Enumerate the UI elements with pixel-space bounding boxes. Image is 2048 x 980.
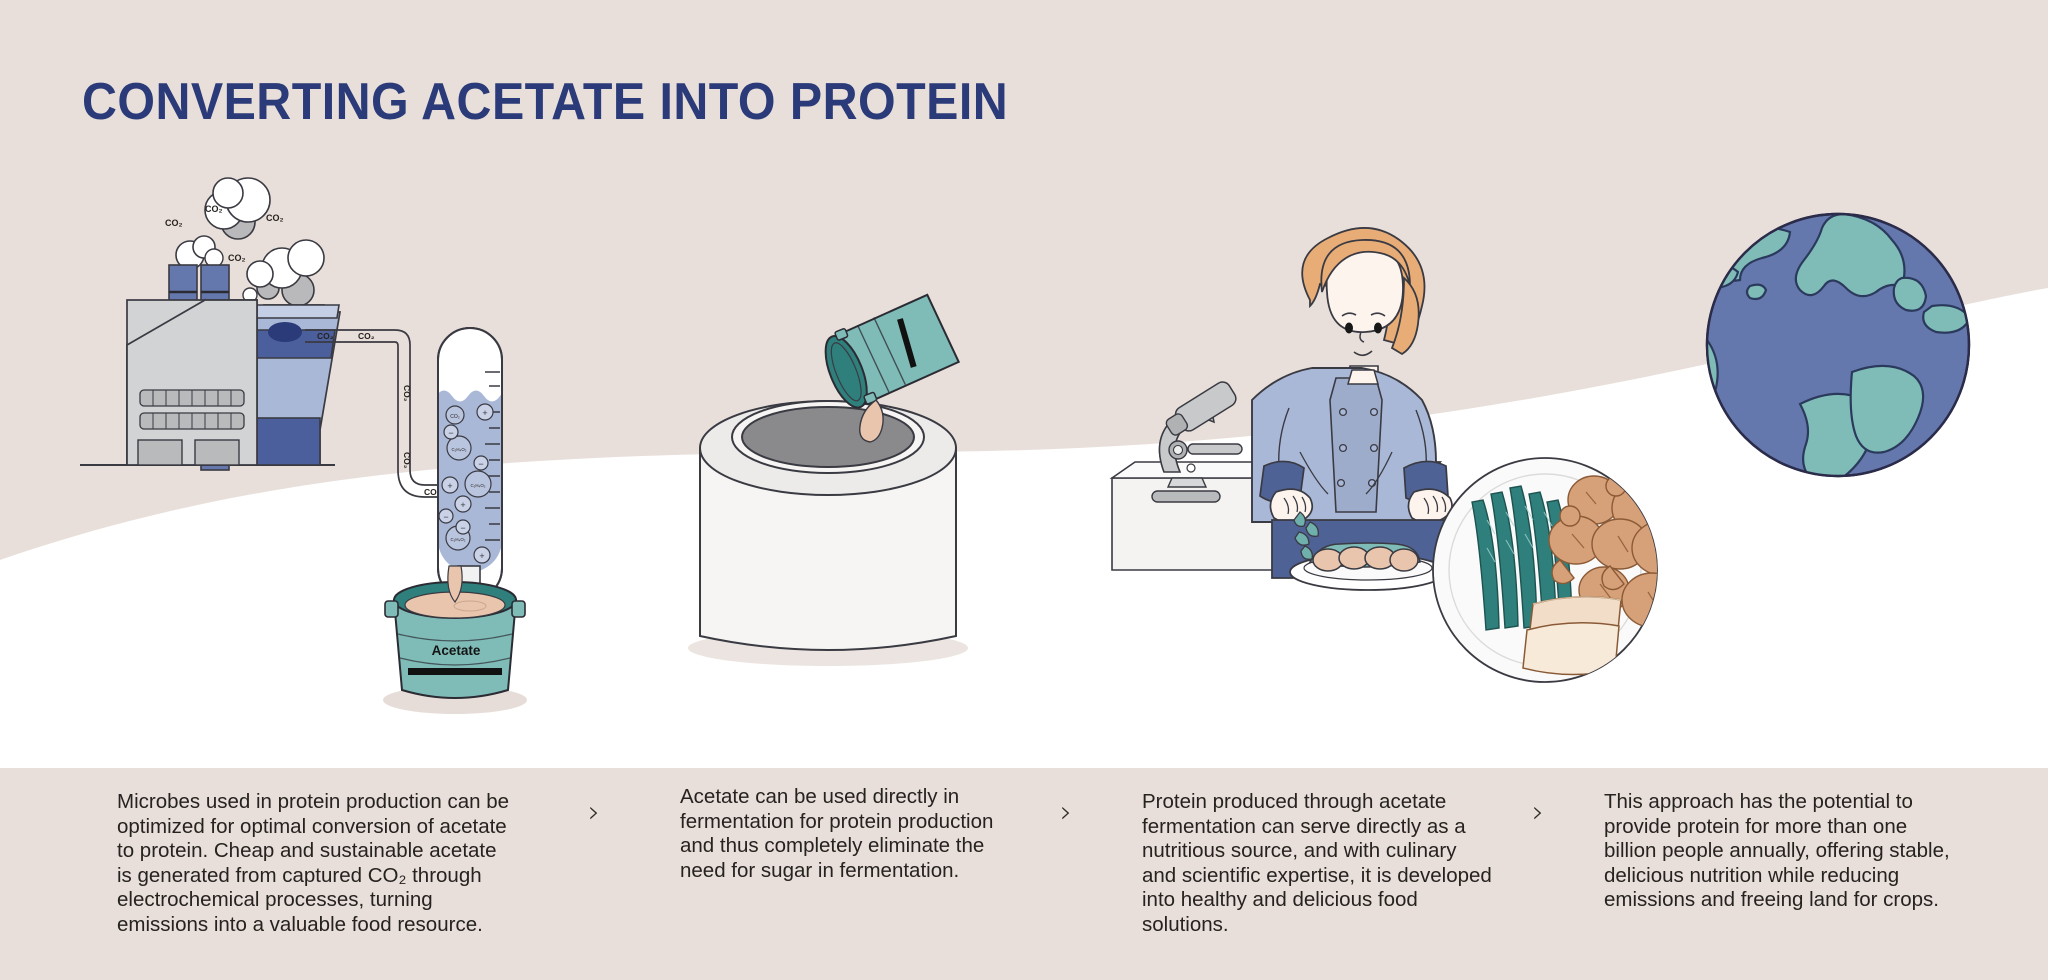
step-separator-1-icon: ›	[588, 798, 600, 828]
factory-building	[127, 300, 257, 465]
bread-icon	[1523, 597, 1621, 675]
caption-1: Microbes used in protein production can …	[117, 790, 517, 938]
factory-window-row	[140, 390, 244, 406]
chef-scene-illustration	[1112, 228, 1468, 590]
svg-text:CO₂: CO₂	[450, 414, 460, 420]
food-plate-illustration	[1433, 458, 1701, 682]
co2-label: CO₂	[358, 331, 375, 341]
co2-label: CO₂	[402, 385, 412, 402]
svg-text:+: +	[447, 481, 452, 491]
factory-window-row	[140, 413, 244, 429]
co2-label: CO₂	[266, 213, 284, 223]
reactor-molecule-bubble: CO₂	[446, 406, 464, 424]
svg-text:C₂H₄O₂: C₂H₄O₂	[451, 537, 466, 542]
svg-text:+: +	[479, 551, 484, 561]
co2-label: CO₂	[205, 204, 223, 214]
factory-illustration: CO₂ CO₂ CO₂ CO₂	[80, 178, 527, 714]
svg-text:−: −	[443, 512, 448, 522]
cooling-tower	[248, 305, 340, 465]
svg-text:C₂H₄O₂: C₂H₄O₂	[452, 447, 467, 452]
reactor-molecule-bubble: C₂H₄O₂	[465, 471, 491, 497]
fermentation-tank-illustration	[688, 293, 968, 666]
caption-3-text: Protein produced through acetate ferment…	[1142, 790, 1492, 938]
caption-4-text: This approach has the potential to provi…	[1604, 790, 1964, 913]
globe-illustration	[1667, 214, 1978, 486]
co2-label: CO₂	[228, 253, 246, 263]
captions-row: Microbes used in protein production can …	[0, 790, 2048, 980]
co2-label: CO₂	[165, 218, 183, 228]
co2-label: CO₂	[317, 331, 334, 341]
svg-text:−: −	[460, 523, 465, 533]
svg-text:−: −	[478, 459, 483, 469]
co2-label: CO₂	[402, 452, 412, 469]
step-separator-3-icon: ›	[1532, 798, 1544, 828]
acetate-bucket-label: Acetate	[432, 643, 481, 658]
svg-text:C₂H₄O₂: C₂H₄O₂	[471, 483, 486, 488]
caption-4: This approach has the potential to provi…	[1604, 790, 1964, 913]
caption-2: Acetate can be used directly in fermenta…	[680, 785, 1000, 883]
caption-1-text: Microbes used in protein production can …	[117, 790, 517, 938]
step-separator-2-icon: ›	[1060, 798, 1072, 828]
svg-text:+: +	[482, 408, 487, 418]
caption-3: Protein produced through acetate ferment…	[1142, 790, 1492, 938]
caption-2-text: Acetate can be used directly in fermenta…	[680, 785, 1000, 883]
infographic-canvas: CONVERTING ACETATE INTO PROTEIN	[0, 0, 2048, 980]
svg-text:−: −	[448, 428, 453, 438]
reactor-molecule-bubble: C₂H₄O₂	[447, 436, 471, 460]
illustration-scene: CO₂ CO₂ CO₂ CO₂	[0, 0, 2048, 800]
smoke-cloud-group	[176, 178, 324, 306]
acetate-bucket: Acetate	[383, 566, 527, 714]
chef-character	[1252, 228, 1468, 578]
svg-text:+: +	[460, 500, 465, 510]
pouring-bucket	[816, 293, 961, 413]
